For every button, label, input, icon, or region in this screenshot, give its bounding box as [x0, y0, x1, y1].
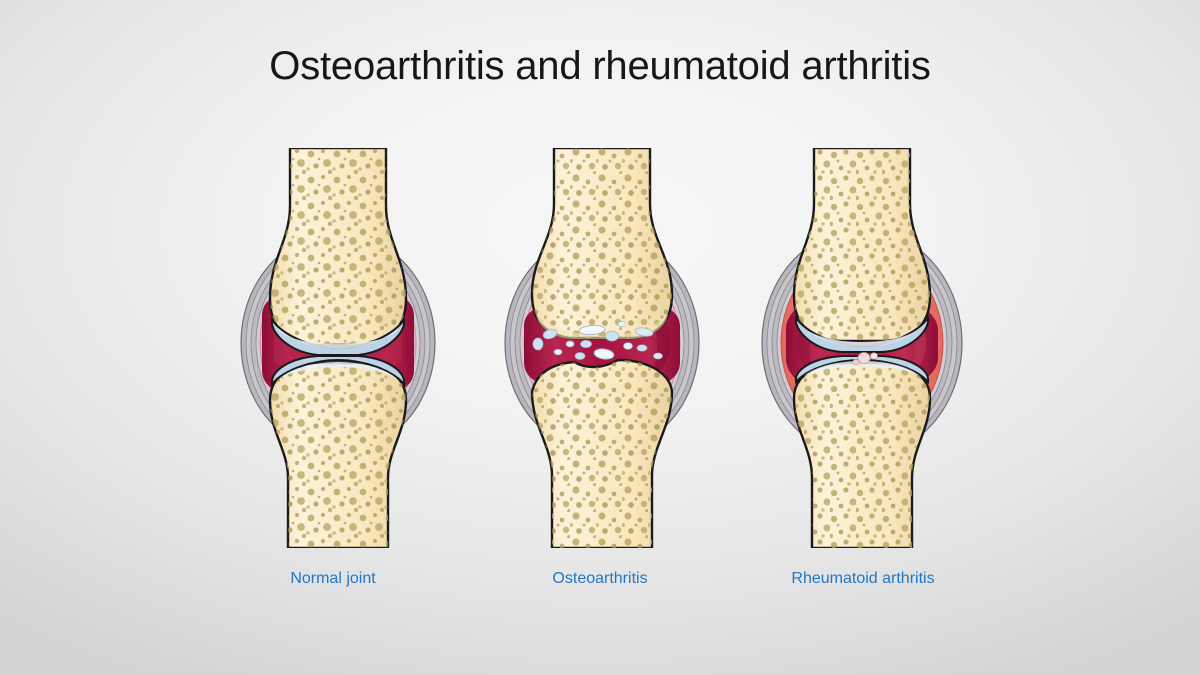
figure-rheumatoid-arthritis-joint: [752, 148, 972, 548]
upper-bone-normal: [270, 148, 406, 345]
page-title: Osteoarthritis and rheumatoid arthritis: [0, 44, 1200, 89]
illustration-canvas: Osteoarthritis and rheumatoid arthritis: [0, 0, 1200, 675]
caption-rheumatoid-arthritis: Rheumatoid arthritis: [713, 570, 1013, 588]
upper-bone-osteoarthritis: [532, 148, 672, 339]
lower-bone-rheumatoid: [794, 363, 930, 548]
upper-bone-rheumatoid: [794, 148, 930, 341]
lower-bone-normal: [270, 363, 406, 548]
figure-osteoarthritis-joint: [492, 148, 712, 548]
lower-bone-osteoarthritis: [532, 360, 672, 548]
figure-normal-joint: [228, 148, 448, 548]
caption-normal-joint: Normal joint: [183, 570, 483, 588]
caption-osteoarthritis: Osteoarthritis: [450, 570, 750, 588]
